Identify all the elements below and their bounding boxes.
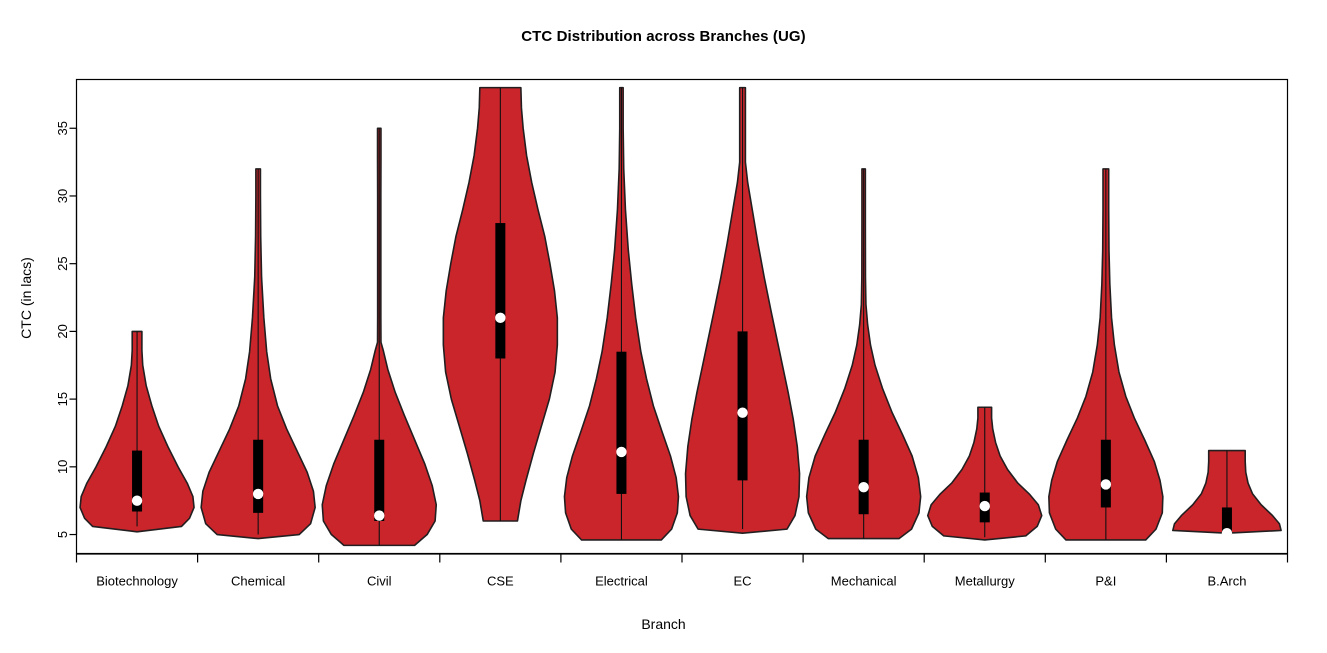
median-dot (616, 447, 626, 457)
median-dot (737, 407, 747, 417)
x-axis-tick-label: Mechanical (831, 574, 897, 589)
iqr-box (253, 440, 263, 513)
violin-plot-figure: CTC Distribution across Branches (UG) CT… (0, 0, 1327, 653)
x-axis-tick-label: B.Arch (1207, 574, 1246, 589)
iqr-box (495, 223, 505, 358)
y-axis-tick-label: 30 (55, 189, 70, 203)
x-axis-tick-label: Chemical (231, 574, 285, 589)
x-axis-tick-label: Civil (367, 574, 392, 589)
iqr-box (859, 440, 869, 514)
x-axis-tick-label: Metallurgy (955, 574, 1015, 589)
median-dot (253, 489, 263, 499)
median-dot (980, 501, 990, 511)
iqr-box (616, 352, 626, 494)
x-axis-tick-label: Electrical (595, 574, 648, 589)
iqr-box (738, 331, 748, 480)
y-axis: 5101520253035 (55, 121, 77, 538)
median-dot (132, 495, 142, 505)
median-dot (858, 482, 868, 492)
x-axis-tick-label: Biotechnology (96, 574, 178, 589)
iqr-box (1101, 440, 1111, 508)
x-axis-tick-label: EC (734, 574, 752, 589)
iqr-box (374, 440, 384, 521)
y-axis-tick-label: 10 (55, 460, 70, 474)
x-axis-tick-label: CSE (487, 574, 514, 589)
median-dot (495, 313, 505, 323)
x-axis: BiotechnologyChemicalCivilCSEElectricalE… (77, 554, 1288, 589)
median-dot (1101, 479, 1111, 489)
y-axis-tick-label: 15 (55, 392, 70, 406)
median-dot (374, 510, 384, 520)
y-axis-tick-label: 20 (55, 324, 70, 338)
median-dot (1222, 528, 1232, 538)
x-axis-tick-label: P&I (1095, 574, 1116, 589)
plot-canvas: 5101520253035BiotechnologyChemicalCivilC… (0, 0, 1327, 653)
y-axis-tick-label: 35 (55, 121, 70, 135)
y-axis-tick-label: 25 (55, 256, 70, 270)
y-axis-tick-label: 5 (55, 531, 70, 538)
